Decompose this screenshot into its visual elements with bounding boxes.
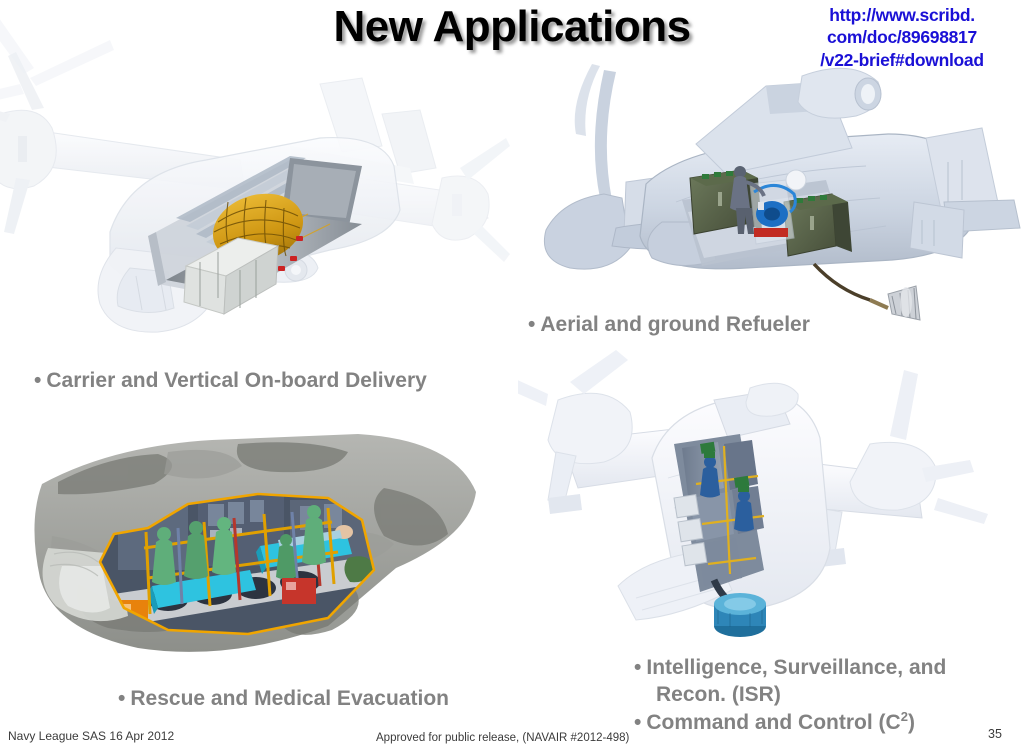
footer-left-text: Navy League SAS 16 Apr 2012 (8, 729, 174, 743)
bullet-glyph: • (634, 711, 641, 734)
caption-cod-text: Carrier and Vertical On-board Delivery (46, 369, 426, 392)
footer-release-statement: Approved for public release, (NAVAIR #20… (376, 732, 629, 744)
sensor-radome (714, 593, 766, 637)
caption-isr-text: Intelligence, Surveillance, and (646, 656, 946, 679)
bullet-glyph: • (634, 656, 641, 679)
caption-c2-line: •Command and Control (C2) (634, 709, 946, 737)
drogue-basket (888, 286, 920, 320)
caption-c2-tail: ) (908, 711, 915, 734)
bullet-glyph: • (528, 313, 535, 336)
bullet-glyph: • (118, 687, 125, 710)
drogue-hose (814, 264, 920, 320)
image-isr-command-control (518, 348, 994, 658)
caption-refueler-text: Aerial and ground Refueler (540, 313, 810, 336)
source-url-annotation[interactable]: http://www.scribd. com/doc/89698817 /v22… (786, 4, 1018, 71)
caption-medevac-text: Rescue and Medical Evacuation (130, 687, 449, 710)
caption-isr-line-2: Recon. (ISR) (634, 682, 946, 709)
caption-c2-superscript: 2 (901, 709, 908, 724)
caption-c2-text: Command and Control (C (646, 711, 900, 734)
image-aerial-ground-refueler (496, 52, 1024, 342)
source-url-line-2: com/doc/89698817 (786, 26, 1018, 48)
bullet-glyph: • (34, 369, 41, 392)
caption-isr-and-c2: •Intelligence, Surveillance, and Recon. … (634, 655, 946, 737)
source-url-line-1: http://www.scribd. (786, 4, 1018, 26)
slide-canvas: New Applications http://www.scribd. com/… (0, 0, 1024, 751)
caption-isr-line-1: •Intelligence, Surveillance, and (634, 655, 946, 682)
caption-aerial-ground-refueler: •Aerial and ground Refueler (528, 312, 810, 339)
image-rescue-medical-evacuation (28, 418, 498, 698)
caption-rescue-medical-evacuation: •Rescue and Medical Evacuation (118, 686, 449, 713)
image-carrier-onboard-delivery (0, 18, 510, 388)
footer-page-number: 35 (988, 727, 1002, 741)
source-url-line-3: /v22-brief#download (786, 49, 1018, 71)
cod-rotor-blades (0, 18, 114, 106)
caption-carrier-onboard-delivery: •Carrier and Vertical On-board Delivery (34, 368, 427, 395)
